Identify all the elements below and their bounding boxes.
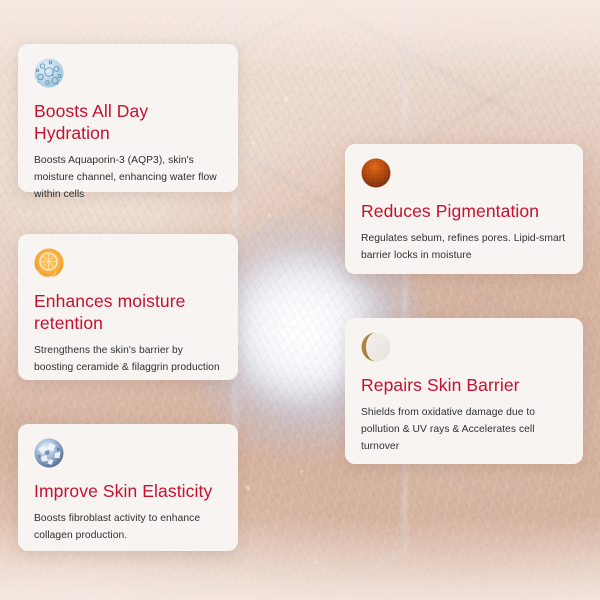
amber-powder-icon [361,158,391,188]
card-body: Boosts fibroblast activity to enhance co… [34,511,222,544]
card-body: Regulates sebum, refines pores. Lipid-sm… [361,231,567,264]
card-title: Repairs Skin Barrier [361,374,567,396]
benefit-card-elasticity[interactable]: Improve Skin Elasticity Boosts fibroblas… [18,424,238,551]
half-tone-circle-icon [361,332,391,362]
card-title: Enhances moisture retention [34,290,222,334]
card-title: Reduces Pigmentation [361,200,567,222]
card-title: Boosts All Day Hydration [34,100,222,144]
benefit-card-pigmentation[interactable]: Reduces Pigmentation Regulates sebum, re… [345,144,583,274]
citrus-slice-icon [34,248,64,278]
benefit-card-skin-barrier[interactable]: Repairs Skin Barrier Shields from oxidat… [345,318,583,464]
water-molecule-icon [34,58,64,88]
benefit-card-moisture-retention[interactable]: Enhances moisture retention Strengthens … [18,234,238,380]
mineral-sphere-icon [34,438,64,468]
card-title: Improve Skin Elasticity [34,480,222,502]
benefits-infographic: Boosts All Day Hydration Boosts Aquapori… [0,0,600,600]
card-body: Shields from oxidative damage due to pol… [361,405,567,455]
card-body: Strengthens the skin's barrier by boosti… [34,343,222,376]
benefit-card-hydration[interactable]: Boosts All Day Hydration Boosts Aquapori… [18,44,238,192]
card-body: Boosts Aquaporin-3 (AQP3), skin's moistu… [34,153,222,203]
